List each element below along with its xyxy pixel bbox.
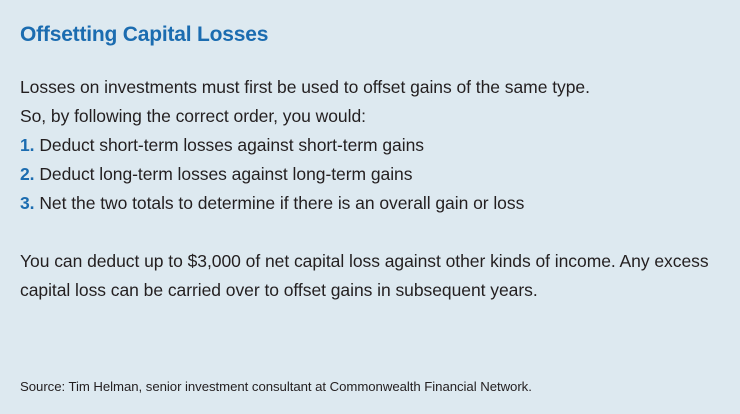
steps-list: 1. Deduct short-term losses against shor… [20, 131, 720, 218]
step-number: 2. [20, 164, 35, 184]
list-item: 3. Net the two totals to determine if th… [20, 189, 720, 218]
deduction-paragraph: You can deduct up to $3,000 of net capit… [20, 247, 710, 305]
step-number: 1. [20, 135, 35, 155]
list-item: 1. Deduct short-term losses against shor… [20, 131, 720, 160]
step-text: Net the two totals to determine if there… [39, 193, 524, 213]
step-number: 3. [20, 193, 35, 213]
step-text: Deduct short-term losses against short-t… [39, 135, 424, 155]
page-title: Offsetting Capital Losses [20, 22, 720, 47]
intro-paragraph-block: Losses on investments must first be used… [20, 73, 720, 131]
step-text: Deduct long-term losses against long-ter… [39, 164, 412, 184]
intro-line-1: Losses on investments must first be used… [20, 73, 720, 102]
source-attribution: Source: Tim Helman, senior investment co… [20, 378, 532, 396]
list-item: 2. Deduct long-term losses against long-… [20, 160, 720, 189]
intro-line-2: So, by following the correct order, you … [20, 102, 720, 131]
capital-losses-callout-card: Offsetting Capital Losses Losses on inve… [0, 0, 740, 414]
